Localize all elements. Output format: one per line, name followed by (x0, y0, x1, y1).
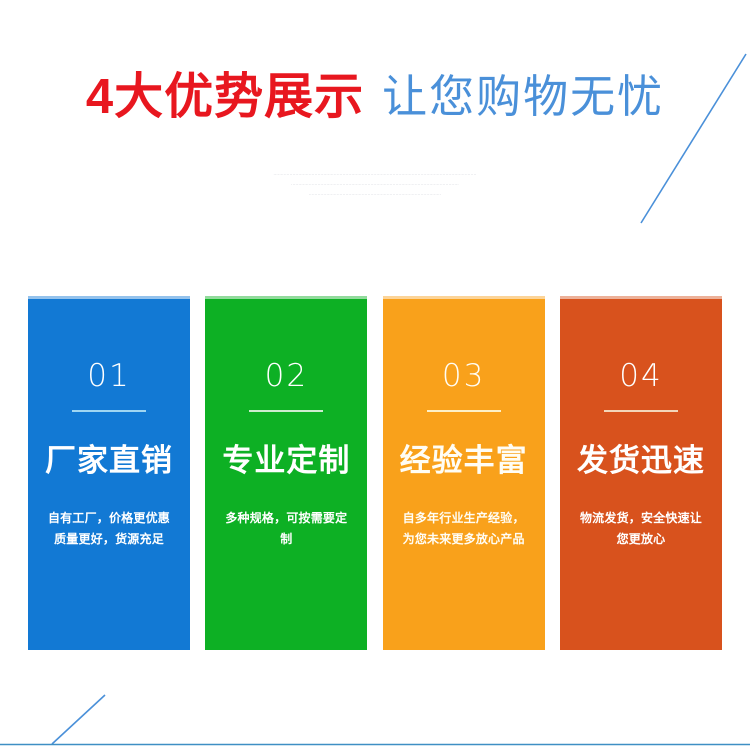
card-divider (249, 410, 323, 412)
diagonal-line-bottom-left (52, 695, 105, 744)
card-description: 多种规格，可按需要定制 (220, 508, 352, 550)
watermark-text-block: ········································… (0, 170, 750, 200)
card-divider (72, 410, 146, 412)
promo-poster: 4大优势展示让您购物无忧 ···························… (0, 0, 750, 750)
card-number: 01 (87, 361, 130, 392)
headline-sub-text: 让您购物无忧 (382, 71, 664, 122)
headline: 4大优势展示让您购物无忧 (0, 57, 750, 128)
advantage-card-03[interactable]: 03 经验丰富 自多年行业生产经验，为您未来更多放心产品 (383, 296, 545, 650)
card-description: 自多年行业生产经验，为您未来更多放心产品 (398, 508, 530, 550)
card-number: 02 (265, 361, 308, 392)
advantage-card-02[interactable]: 02 专业定制 多种规格，可按需要定制 (205, 296, 367, 650)
card-number: 04 (619, 361, 662, 392)
card-title: 厂家直销 (45, 444, 173, 478)
card-title: 经验丰富 (400, 444, 528, 478)
card-divider (604, 410, 678, 412)
advantage-card-01[interactable]: 01 厂家直销 自有工厂，价格更优惠质量更好，货源充足 (28, 296, 190, 650)
card-divider (427, 410, 501, 412)
watermark-line-1: ········································… (0, 170, 750, 180)
card-number: 03 (442, 361, 485, 392)
watermark-line-3: ········································… (0, 190, 750, 200)
watermark-line-2: ········································… (0, 180, 750, 190)
card-description: 物流发货，安全快速让您更放心 (575, 508, 707, 550)
headline-main-text: 4大优势展示 (86, 70, 364, 124)
card-title: 发货迅速 (577, 444, 705, 478)
advantage-card-list: 01 厂家直销 自有工厂，价格更优惠质量更好，货源充足 02 专业定制 多种规格… (28, 296, 722, 650)
card-description: 自有工厂，价格更优惠质量更好，货源充足 (43, 508, 175, 550)
advantage-card-04[interactable]: 04 发货迅速 物流发货，安全快速让您更放心 (560, 296, 722, 650)
card-title: 专业定制 (222, 444, 350, 478)
